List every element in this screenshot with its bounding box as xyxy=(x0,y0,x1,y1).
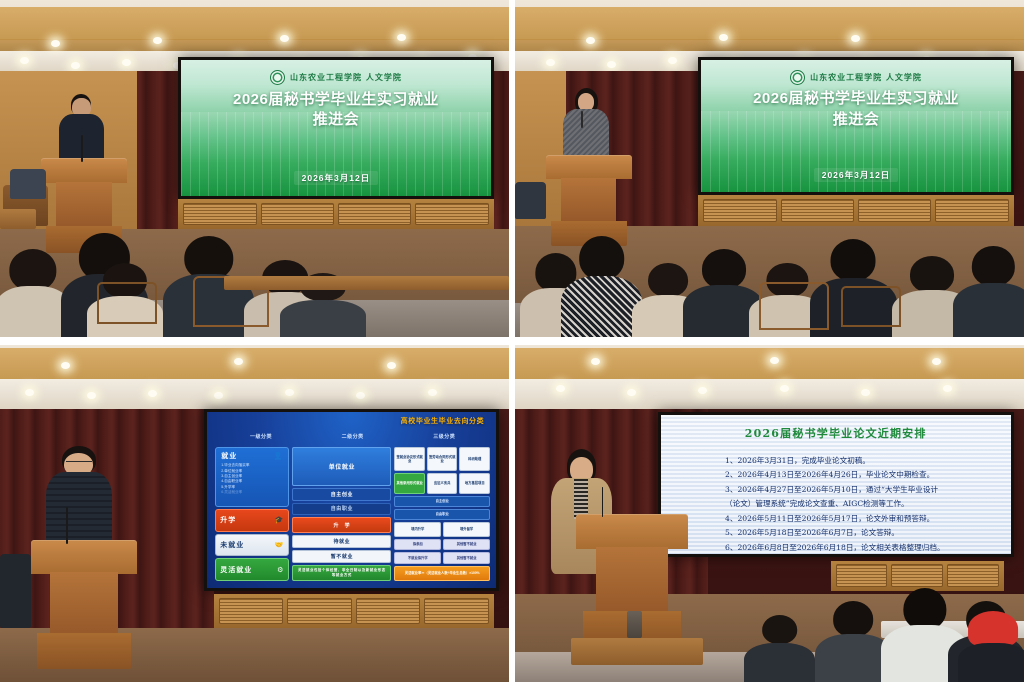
projection-screen: 2026届秘书学毕业论文近期安排 1、2026年3月31日，完成毕业论文初稿。 … xyxy=(658,412,1014,557)
level2-awaiting-job: 待就业 xyxy=(292,535,391,548)
level2-self-startup: 自主创业 xyxy=(292,488,391,501)
diagram-column-level2: 单位就业 自主创业 自由职业 升 学 待就业 暂不就业 灵活就业包括个体经营、非… xyxy=(292,447,391,581)
speaker-female xyxy=(563,88,609,162)
vent-louver xyxy=(858,199,931,222)
level3-freelance: 自由职业 xyxy=(394,509,490,520)
audience-shoulders xyxy=(953,283,1024,337)
schedule-item: 3、2026年4月27日至2026年5月10日，通过“大学生毕业设计 xyxy=(725,483,993,498)
audience-shoulders xyxy=(815,634,891,682)
university-seal-icon xyxy=(270,70,285,85)
audience-chair xyxy=(759,282,829,330)
ceiling-wood-beam xyxy=(0,348,509,378)
podium xyxy=(546,155,633,246)
level3-grassroots-project: 地方基层项目 xyxy=(459,473,490,494)
slide-title: 2026届秘书学毕业生实习就业 推进会 xyxy=(720,89,992,130)
gutter-horizontal-right xyxy=(515,337,1024,345)
ceiling-light xyxy=(387,362,396,369)
level3-not-employed-study: 不就业拟升学 xyxy=(394,552,441,564)
vent-louver xyxy=(287,598,352,624)
thesis-schedule-list: 1、2026年3月31日，完成毕业论文初稿。 2、2026年4月13日至2026… xyxy=(685,454,993,556)
slide-title-line2: 推进会 xyxy=(200,110,472,130)
level1-further-study-label: 升学 xyxy=(220,515,236,525)
schedule-item: 4、2026年5月11日至2026年5月17日，论文外审和预答辩。 xyxy=(725,512,993,527)
wall-vent-panel xyxy=(214,594,494,628)
vent-louver xyxy=(891,564,943,587)
audience-head xyxy=(702,249,746,288)
slide-title: 2026届秘书学毕业生实习就业 推进会 xyxy=(200,90,472,131)
diagram-column-level3: 签就业协议形式就业 签劳动合同形式就业 科研助理 其他录用形式就业 应征义务兵 … xyxy=(394,447,490,581)
level2-freelance: 自由职业 xyxy=(292,503,391,516)
audience-shoulders xyxy=(958,643,1024,682)
microphone xyxy=(81,135,83,162)
level3-overseas-study: 境外留学 xyxy=(443,522,490,537)
vent-louver xyxy=(338,203,411,226)
audience-head xyxy=(831,239,876,281)
projection-screen: 高校毕业生毕业去向分类 一级分类 二级分类 三级分类 就业 👤 xyxy=(204,409,499,591)
slide-thesis-schedule: 2026届秘书学毕业论文近期安排 1、2026年3月31日，完成毕业论文初稿。 … xyxy=(661,415,1011,554)
sub-item: 6.灵活就业率 xyxy=(221,490,249,495)
podium-column xyxy=(56,182,111,227)
ceiling-light xyxy=(87,392,96,399)
vent-louver xyxy=(935,199,1008,222)
podium-column xyxy=(561,178,616,222)
stage-step-table xyxy=(571,638,703,665)
audience-chair xyxy=(97,282,157,323)
schedule-item: 2、2026年4月13日至2026年4月26日，毕业论文中期检查。 xyxy=(725,468,993,483)
level3-planning-to-apply: 拟参加 xyxy=(394,539,441,551)
led-screen: 山东农业工程学院 人文学院 2026届秘书学毕业生实习就业 推进会 2026年3… xyxy=(698,57,1014,195)
audience-head xyxy=(762,615,798,645)
level1-further-study: 升学 🎓 xyxy=(215,509,289,532)
photo-collage: 山东农业工程学院 人文学院 2026届秘书学毕业生实习就业 推进会 2026年3… xyxy=(0,0,1024,682)
level2-further-study: 升 学 xyxy=(292,517,391,533)
level1-flexible-label: 灵活就业 xyxy=(220,565,252,575)
diagram-column-headers: 一级分类 二级分类 三级分类 xyxy=(215,433,490,445)
slide-date-text: 2026年3月12日 xyxy=(814,168,899,182)
ceiling-light xyxy=(214,392,223,399)
vent-louver xyxy=(947,564,999,587)
graduation-icon: 🎓 xyxy=(275,516,285,524)
audience-head xyxy=(910,256,954,292)
slide-green-banner: 山东农业工程学院 人文学院 2026届秘书学毕业生实习就业 推进会 2026年3… xyxy=(701,60,1011,192)
slide-title-line1: 2026届秘书学毕业生实习就业 xyxy=(200,90,472,110)
podium-top xyxy=(31,540,138,573)
podium-base xyxy=(37,633,131,669)
ceiling-light xyxy=(428,389,437,396)
audience-head xyxy=(903,588,946,630)
ceiling-soffit xyxy=(515,379,1024,413)
level1-unemployed-label: 未就业 xyxy=(220,540,244,550)
audience-head xyxy=(579,236,625,280)
handshake-icon: 🤝 xyxy=(275,541,285,549)
podium xyxy=(31,540,138,668)
wall-vent-panel xyxy=(698,195,1014,225)
level3-flexible-rate-formula: 灵活就业率＝（灵活就业人数÷毕业生总数）×100% xyxy=(394,566,490,581)
ceiling-light xyxy=(719,34,728,41)
speaker-body xyxy=(563,109,609,162)
speaker-student-male xyxy=(46,446,112,554)
person-icon: 👤 xyxy=(274,452,284,460)
vent-louver xyxy=(836,564,888,587)
photo-bottom-right: 2026届秘书学毕业论文近期安排 1、2026年3月31日，完成毕业论文初稿。 … xyxy=(515,345,1024,682)
university-seal-icon xyxy=(790,70,805,85)
audience-bench xyxy=(224,276,509,289)
slide-logo-text: 山东农业工程学院 人文学院 xyxy=(810,72,922,83)
level3-military-service: 应征义务兵 xyxy=(427,473,458,494)
level3-domestic-study: 境内升学 xyxy=(394,522,441,537)
audience-shoulders xyxy=(280,300,367,337)
photo-bottom-left: 高校毕业生毕业去向分类 一级分类 二级分类 三级分类 就业 👤 xyxy=(0,345,509,682)
vent-louver xyxy=(356,598,421,624)
ceiling-light xyxy=(546,59,555,66)
audience-shoulders xyxy=(561,276,642,337)
audience-member xyxy=(744,615,815,682)
ceiling-light xyxy=(607,61,616,68)
glasses-icon xyxy=(66,461,92,465)
schedule-item: 5、2026年5月18日至2026年6月7日，论文答辩。 xyxy=(725,526,993,541)
thesis-schedule-title: 2026届秘书学毕业论文近期安排 xyxy=(661,425,1011,441)
vent-louver xyxy=(703,199,776,222)
audience-member xyxy=(953,246,1024,337)
microphone xyxy=(602,487,604,517)
slide-date-text: 2026年3月12日 xyxy=(294,171,379,185)
audience-head xyxy=(648,263,688,297)
stage-chair xyxy=(0,554,31,628)
audience-member-red-cap xyxy=(958,611,1024,682)
thermos-bottle xyxy=(627,611,642,638)
led-screen: 山东农业工程学院 人文学院 2026届秘书学毕业生实习就业 推进会 2026年3… xyxy=(178,57,494,199)
audience-member xyxy=(561,236,642,337)
audience-chair xyxy=(841,286,901,327)
level3-agreement-employment: 签就业协议形式就业 xyxy=(394,447,425,471)
level1-unemployed: 未就业 🤝 xyxy=(215,534,289,557)
level1-employment-subitems: 1.毕业去向落实率 2.单位就业率 3.自主创业率 4.自由职业率 5.升学率 … xyxy=(221,463,249,495)
photo-top-left: 山东农业工程学院 人文学院 2026届秘书学毕业生实习就业 推进会 2026年3… xyxy=(0,0,509,337)
ceiling-wood-beam xyxy=(0,7,509,41)
slide-title-line1: 2026届秘书学毕业生实习就业 xyxy=(720,89,992,109)
level1-employment: 就业 👤 1.毕业去向落实率 2.单位就业率 3.自主创业率 4.自由职业率 5… xyxy=(215,447,289,507)
slide-logo: 山东农业工程学院 人文学院 xyxy=(701,70,1011,85)
level1-employment-label: 就业 xyxy=(221,451,237,461)
diagram-body: 就业 👤 1.毕业去向落实率 2.单位就业率 3.自主创业率 4.自由职业率 5… xyxy=(215,447,490,581)
column-header-level3: 三级分类 xyxy=(398,433,490,445)
ceiling-light xyxy=(770,357,779,364)
microphone xyxy=(66,507,68,544)
audience-member xyxy=(815,601,891,682)
audience-head xyxy=(972,246,1014,286)
podium-top xyxy=(576,514,688,549)
level3-self-startup: 自主创业 xyxy=(394,496,490,507)
ceiling-wood-beam xyxy=(515,7,1024,41)
diagram-title: 高校毕业生毕业去向分类 xyxy=(401,416,485,426)
ceiling-light xyxy=(861,389,870,396)
red-cap-icon xyxy=(969,611,1019,646)
slide-classification-diagram: 高校毕业生毕业去向分类 一级分类 二级分类 三级分类 就业 👤 xyxy=(207,412,496,588)
slide-logo: 山东农业工程学院 人文学院 xyxy=(181,70,491,85)
audience-head xyxy=(9,249,56,291)
level3-other-employment: 其他录用形式就业 xyxy=(394,473,425,494)
slide-green-banner: 山东农业工程学院 人文学院 2026届秘书学毕业生实习就业 推进会 2026年3… xyxy=(181,60,491,196)
podium-column xyxy=(50,572,118,633)
podium-column xyxy=(596,547,668,612)
podium-top xyxy=(41,158,128,183)
sub-item: 1.毕业去向落实率 xyxy=(221,463,249,468)
vent-louver xyxy=(415,203,488,226)
ceiling-light xyxy=(668,57,677,64)
column-header-level2: 二级分类 xyxy=(307,433,399,445)
vent-louver xyxy=(424,598,489,624)
speaker-head xyxy=(578,93,594,111)
level1-flexible: 灵活就业 ⚙ xyxy=(215,558,289,581)
vent-louver xyxy=(183,203,256,226)
slide-logo-text: 山东农业工程学院 人文学院 xyxy=(290,72,402,83)
stage-table xyxy=(0,209,36,229)
wall-vent-panel xyxy=(831,561,1004,591)
schedule-item: 6、2026年6月8日至2026年6月18日，论文相关表格整理归档。 xyxy=(725,541,993,556)
audience-shoulders xyxy=(744,643,815,682)
handheld-microphone xyxy=(581,111,583,128)
gutter-horizontal-left xyxy=(0,337,509,345)
level2-flexible-note: 灵活就业包括个体经营、非全日制以及新就业形态等就业方式 xyxy=(292,565,391,581)
level2-unit-employment: 单位就业 xyxy=(292,447,391,486)
column-header-level1: 一级分类 xyxy=(215,433,307,445)
slide-title-line2: 推进会 xyxy=(720,110,992,130)
vent-louver xyxy=(781,199,854,222)
stage-chair xyxy=(10,169,46,199)
wall-vent-panel xyxy=(178,199,494,229)
ceiling-light xyxy=(627,389,636,396)
gear-icon: ⚙ xyxy=(277,566,284,574)
slide-date: 2026年3月12日 xyxy=(701,165,1011,183)
level3-other-not-seeking-2: 其他暂不就业 xyxy=(443,552,490,564)
level2-not-seeking: 暂不就业 xyxy=(292,550,391,563)
vent-louver xyxy=(219,598,284,624)
schedule-item: （论文）管理系统”完成论文查重、AIGC检测等工作。 xyxy=(725,497,993,512)
photo-top-right: 山东农业工程学院 人文学院 2026届秘书学毕业生实习就业 推进会 2026年3… xyxy=(515,0,1024,337)
schedule-item: 1、2026年3月31日，完成毕业论文初稿。 xyxy=(725,454,993,469)
ceiling-light xyxy=(61,362,70,369)
ceiling-light xyxy=(285,389,294,396)
ceiling-light xyxy=(153,37,162,44)
level3-other-not-seeking: 其他暂不就业 xyxy=(443,539,490,551)
slide-date: 2026年3月12日 xyxy=(181,168,491,186)
podium-top xyxy=(546,155,633,179)
level3-contract-employment: 签劳动合同形式就业 xyxy=(427,447,458,471)
ceiling-light xyxy=(397,34,406,41)
vent-louver xyxy=(261,203,334,226)
audience-head xyxy=(834,601,874,637)
level3-research-assistant: 科研助理 xyxy=(459,447,490,471)
stage-chair xyxy=(515,182,546,219)
diagram-column-level1: 就业 👤 1.毕业去向落实率 2.单位就业率 3.自主创业率 4.自由职业率 5… xyxy=(215,447,289,581)
